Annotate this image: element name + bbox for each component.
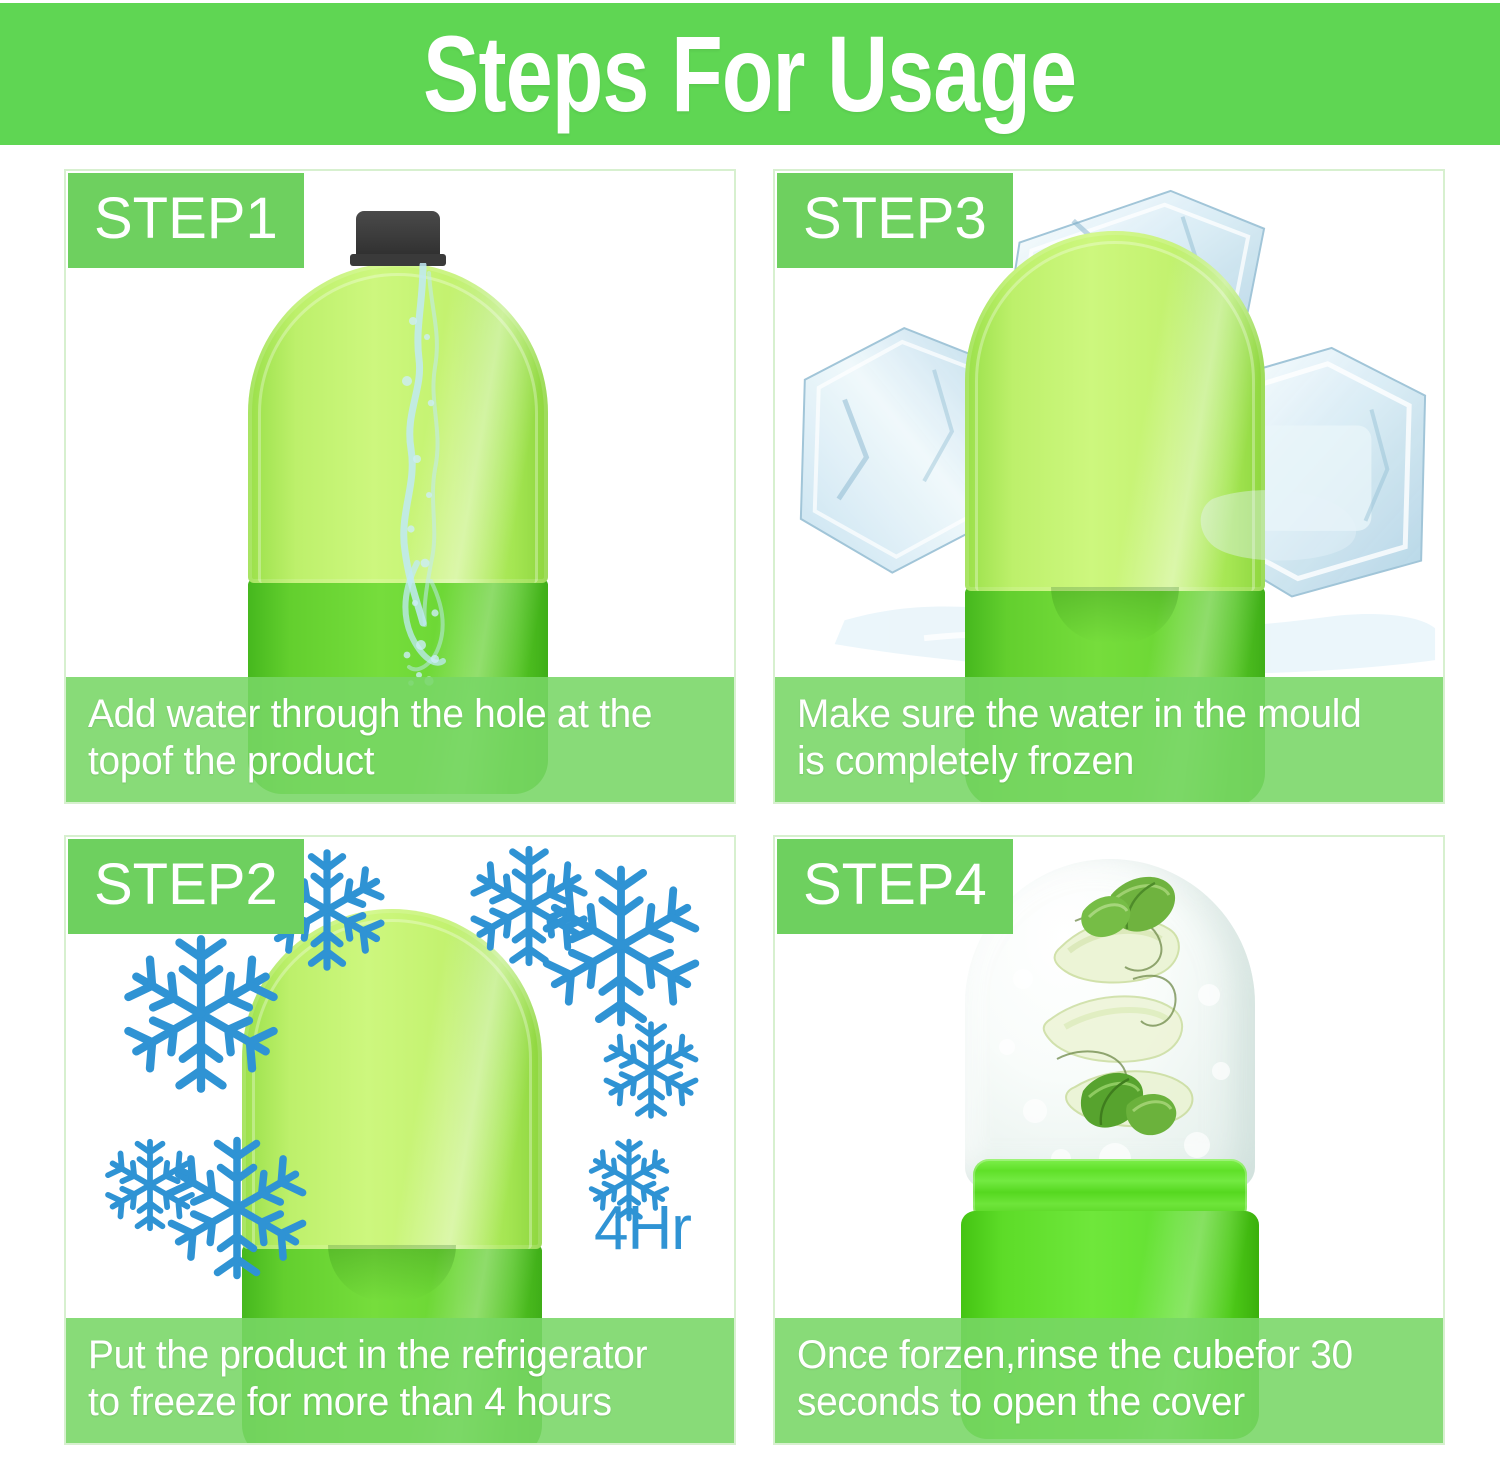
step-caption-3-line-2: is completely frozen: [797, 738, 1406, 784]
step-caption-3: Make sure the water in the mould is comp…: [775, 677, 1443, 802]
page-title: Steps For Usage: [423, 20, 1076, 128]
step-3-illustration: STEP3 Make sure the water in the mould i…: [775, 171, 1443, 802]
step-caption-2-line-1: Put the product in the refrigerator: [88, 1332, 697, 1378]
snowflake-icon: [600, 1019, 702, 1121]
step-badge-3: STEP3: [777, 173, 1013, 268]
step-caption-1-line-1: Add water through the hole at the: [88, 691, 697, 737]
step-caption-2: Put the product in the refrigerator to f…: [66, 1318, 734, 1443]
step-badge-1: STEP1: [68, 173, 304, 268]
step-2-illustration: 4Hr STEP2 Put the product in the refrige…: [66, 837, 734, 1443]
mould-lid: [248, 263, 548, 583]
steps-grid: STEP1 Add water through the hole at the …: [0, 148, 1500, 1467]
black-cap-icon: [356, 211, 440, 257]
snowflake-icon: [536, 861, 706, 1031]
step-panel-1: STEP1 Add water through the hole at the …: [64, 169, 736, 804]
step-caption-4-line-1: Once forzen,rinse the cubefor 30: [797, 1332, 1406, 1378]
step-caption-1: Add water through the hole at the topof …: [66, 677, 734, 802]
header-banner: Steps For Usage: [0, 3, 1500, 145]
step-caption-1-line-2: topof the product: [88, 738, 697, 784]
step-panel-2: 4Hr STEP2 Put the product in the refrige…: [64, 835, 736, 1445]
step-4-illustration: STEP4 Once forzen,rinse the cubefor 30 s…: [775, 837, 1443, 1443]
step-badge-4: STEP4: [777, 839, 1013, 934]
mould-lid: [965, 231, 1265, 591]
step-caption-2-line-2: to freeze for more than 4 hours: [88, 1379, 697, 1425]
step-caption-4-line-2: seconds to open the cover: [797, 1379, 1406, 1425]
step-caption-3-line-1: Make sure the water in the mould: [797, 691, 1406, 737]
freeze-time-label: 4Hr: [594, 1193, 691, 1264]
step-caption-4: Once forzen,rinse the cubefor 30 seconds…: [775, 1318, 1443, 1443]
step-1-illustration: STEP1 Add water through the hole at the …: [66, 171, 734, 802]
snowflake-icon: [118, 931, 284, 1097]
step-panel-3: STEP3 Make sure the water in the mould i…: [773, 169, 1445, 804]
capsule-mould: [965, 231, 1265, 751]
snowflake-icon: [102, 1137, 198, 1233]
step-panel-4: STEP4 Once forzen,rinse the cubefor 30 s…: [773, 835, 1445, 1445]
step-badge-2: STEP2: [68, 839, 304, 934]
